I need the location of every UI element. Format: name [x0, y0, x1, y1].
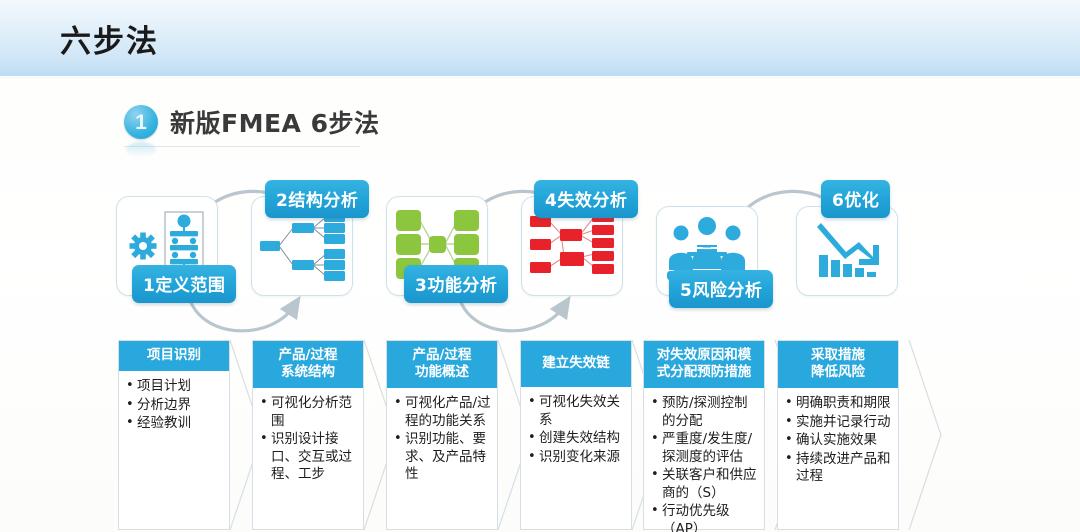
detail-box-4[interactable]: 建立失效链 可视化失效关系 创建失效结构 识别变化来源: [520, 340, 632, 530]
detail-title-line: 功能概述: [391, 364, 493, 381]
detail-body-4: 可视化失效关系 创建失效结构 识别变化来源: [521, 387, 631, 471]
detail-body-6: 明确职责和期限 实施并记录行动 确认实施效果 持续改进产品和过程: [778, 388, 898, 491]
list-item: 可视化产品/过程的功能关系: [394, 395, 491, 430]
detail-body-1: 项目计划 分析边界 经验教训: [119, 371, 229, 438]
list-item: 可视化分析范围: [260, 395, 357, 430]
detail-box-3[interactable]: 产品/过程 功能概述 可视化产品/过程的功能关系 识别功能、要求、及产品特性: [386, 340, 498, 530]
detail-title-line: 采取措施: [782, 347, 894, 364]
list-item: 经验教训: [126, 415, 223, 433]
step-label-3[interactable]: 3功能分析: [404, 265, 508, 303]
detail-box-6[interactable]: 采取措施 降低风险 明确职责和期限 实施并记录行动 确认实施效果 持续改进产品和…: [777, 340, 899, 530]
list-item: 识别变化来源: [528, 449, 625, 467]
detail-title-line: 项目识别: [123, 347, 225, 364]
detail-title-2: 产品/过程 系统结构: [253, 341, 363, 388]
detail-title-line: 式分配预防措施: [648, 364, 760, 381]
page-title: 六步法: [60, 16, 159, 61]
list-item: 预防/探测控制的分配: [651, 395, 758, 430]
arrow-step4-step5: [460, 300, 564, 331]
list-item: 持续改进产品和过程: [785, 451, 892, 486]
step-card-6[interactable]: [796, 206, 898, 296]
detail-title-4: 建立失效链: [521, 341, 631, 387]
detail-title-line: 产品/过程: [257, 347, 359, 364]
detail-title-5: 对失效原因和模 式分配预防措施: [644, 341, 764, 388]
list-item: 确认实施效果: [785, 432, 892, 450]
detail-body-5: 预防/探测控制的分配 严重度/发生度/探测度的评估 关联客户和供应商的（S） 行…: [644, 388, 764, 532]
arrow-step2-step3: [190, 300, 294, 331]
detail-body-2: 可视化分析范围 识别设计接口、交互或过程、工步: [253, 388, 363, 489]
detail-body-3: 可视化产品/过程的功能关系 识别功能、要求、及产品特性: [387, 388, 497, 489]
detail-box-1[interactable]: 项目识别 项目计划 分析边界 经验教训: [118, 340, 230, 530]
slide-canvas: 六步法 1 新版FMEA 6步法: [0, 0, 1080, 532]
list-item: 识别功能、要求、及产品特性: [394, 431, 491, 484]
step-label-2[interactable]: 2结构分析: [265, 180, 369, 218]
step-label-5[interactable]: 5风险分析: [669, 270, 773, 308]
step-label-4[interactable]: 4失效分析: [534, 180, 638, 218]
detail-title-line: 建立失效链: [525, 355, 627, 372]
list-item: 关联客户和供应商的（S）: [651, 467, 758, 502]
detail-box-5[interactable]: 对失效原因和模 式分配预防措施 预防/探测控制的分配 严重度/发生度/探测度的评…: [643, 340, 765, 530]
detail-title-line: 产品/过程: [391, 347, 493, 364]
list-item: 分析边界: [126, 397, 223, 415]
list-item: 项目计划: [126, 378, 223, 396]
step-label-1[interactable]: 1定义范围: [132, 265, 236, 303]
step-label-6[interactable]: 6优化: [821, 180, 890, 218]
list-item: 可视化失效关系: [528, 394, 625, 429]
list-item: 行动优先级（AP）: [651, 503, 758, 532]
detail-title-line: 对失效原因和模: [648, 347, 760, 364]
detail-title-1: 项目识别: [119, 341, 229, 371]
list-item: 创建失效结构: [528, 430, 625, 448]
list-item: 严重度/发生度/探测度的评估: [651, 431, 758, 466]
detail-title-line: 系统结构: [257, 364, 359, 381]
detail-title-6: 采取措施 降低风险: [778, 341, 898, 388]
detail-title-3: 产品/过程 功能概述: [387, 341, 497, 388]
detail-title-line: 降低风险: [782, 364, 894, 381]
declining-bar-chart-icon: [797, 207, 897, 295]
list-item: 明确职责和期限: [785, 395, 892, 413]
list-item: 识别设计接口、交互或过程、工步: [260, 431, 357, 484]
detail-box-2[interactable]: 产品/过程 系统结构 可视化分析范围 识别设计接口、交互或过程、工步: [252, 340, 364, 530]
slide-header: 六步法: [0, 0, 1080, 77]
list-item: 实施并记录行动: [785, 414, 892, 432]
